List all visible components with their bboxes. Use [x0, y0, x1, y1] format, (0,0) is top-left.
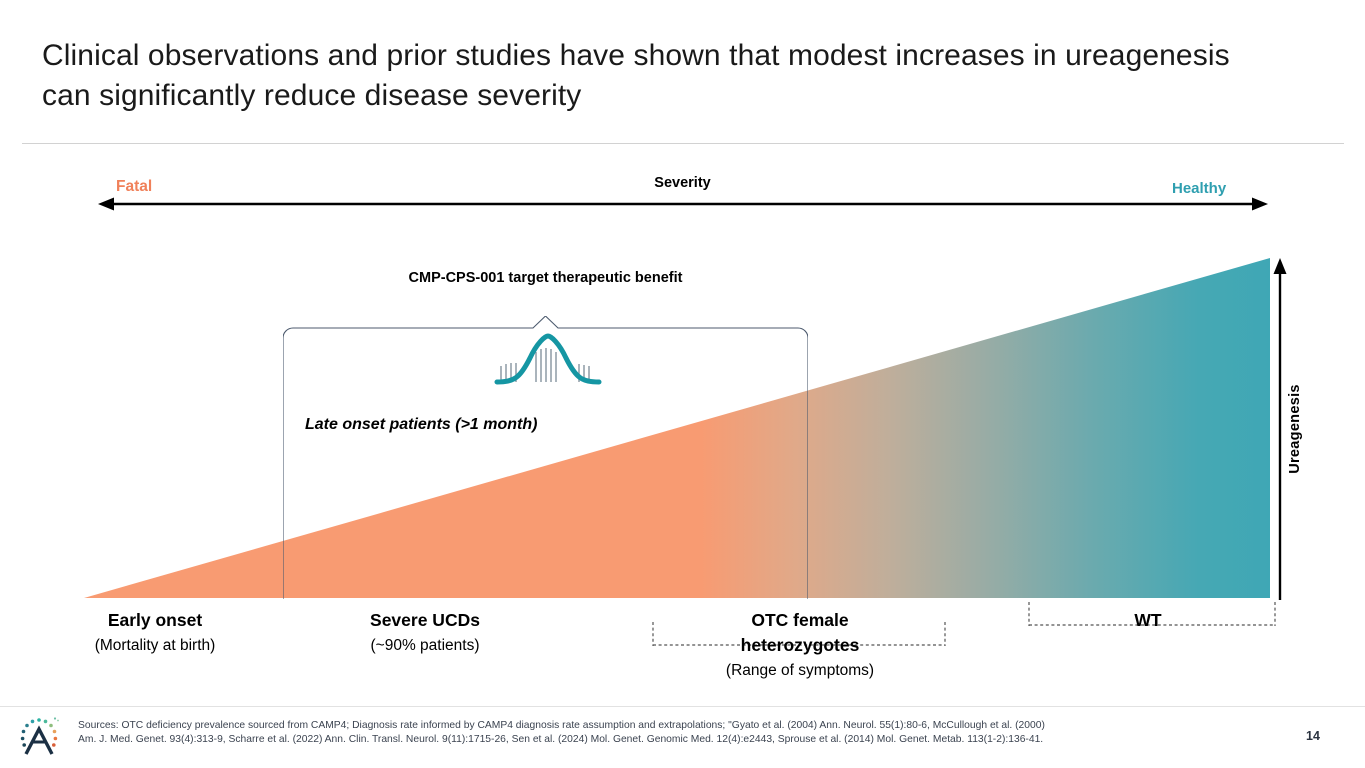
- page-number: 14: [1306, 729, 1320, 743]
- sources-line-1: Sources: OTC deficiency prevalence sourc…: [78, 719, 1288, 733]
- category-severe-ucds-subtitle: (~90% patients): [310, 633, 540, 658]
- axis-end-label-healthy: Healthy: [1172, 180, 1226, 197]
- late-onset-patients-label: Late onset patients (>1 month): [305, 416, 537, 434]
- axis-label-severity: Severity: [0, 175, 1365, 191]
- severity-axis-arrow-icon: [98, 196, 1268, 212]
- category-early-onset-title: Early onset: [40, 608, 270, 633]
- category-wt-title: WT: [1020, 608, 1276, 633]
- category-otc-female-heterozygotes: OTC female heterozygotes (Range of sympt…: [650, 608, 950, 683]
- camp4-logo-icon: [16, 714, 62, 760]
- category-severe-ucds: Severe UCDs (~90% patients): [310, 608, 540, 658]
- category-wt: WT: [1020, 608, 1276, 633]
- category-early-onset: Early onset (Mortality at birth): [40, 608, 270, 658]
- category-otc-subtitle: (Range of symptoms): [650, 658, 950, 683]
- ureagenesis-axis-arrow-icon: [1272, 258, 1288, 600]
- axis-label-ureagenesis: Ureagenesis: [1287, 258, 1309, 600]
- category-severe-ucds-title: Severe UCDs: [310, 608, 540, 633]
- category-otc-title-line1: OTC female: [650, 608, 950, 633]
- page-title: Clinical observations and prior studies …: [42, 36, 1242, 116]
- category-otc-title-line2: heterozygotes: [650, 633, 950, 658]
- sources-footnote: Sources: OTC deficiency prevalence sourc…: [78, 719, 1288, 746]
- bell-curve-icon: [492, 326, 604, 388]
- category-early-onset-subtitle: (Mortality at birth): [40, 633, 270, 658]
- footer-divider: [0, 706, 1365, 707]
- title-divider: [22, 143, 1344, 144]
- sources-line-2: Am. J. Med. Genet. 93(4):313-9, Scharre …: [78, 733, 1288, 747]
- callout-title: CMP-CPS-001 target therapeutic benefit: [283, 270, 808, 286]
